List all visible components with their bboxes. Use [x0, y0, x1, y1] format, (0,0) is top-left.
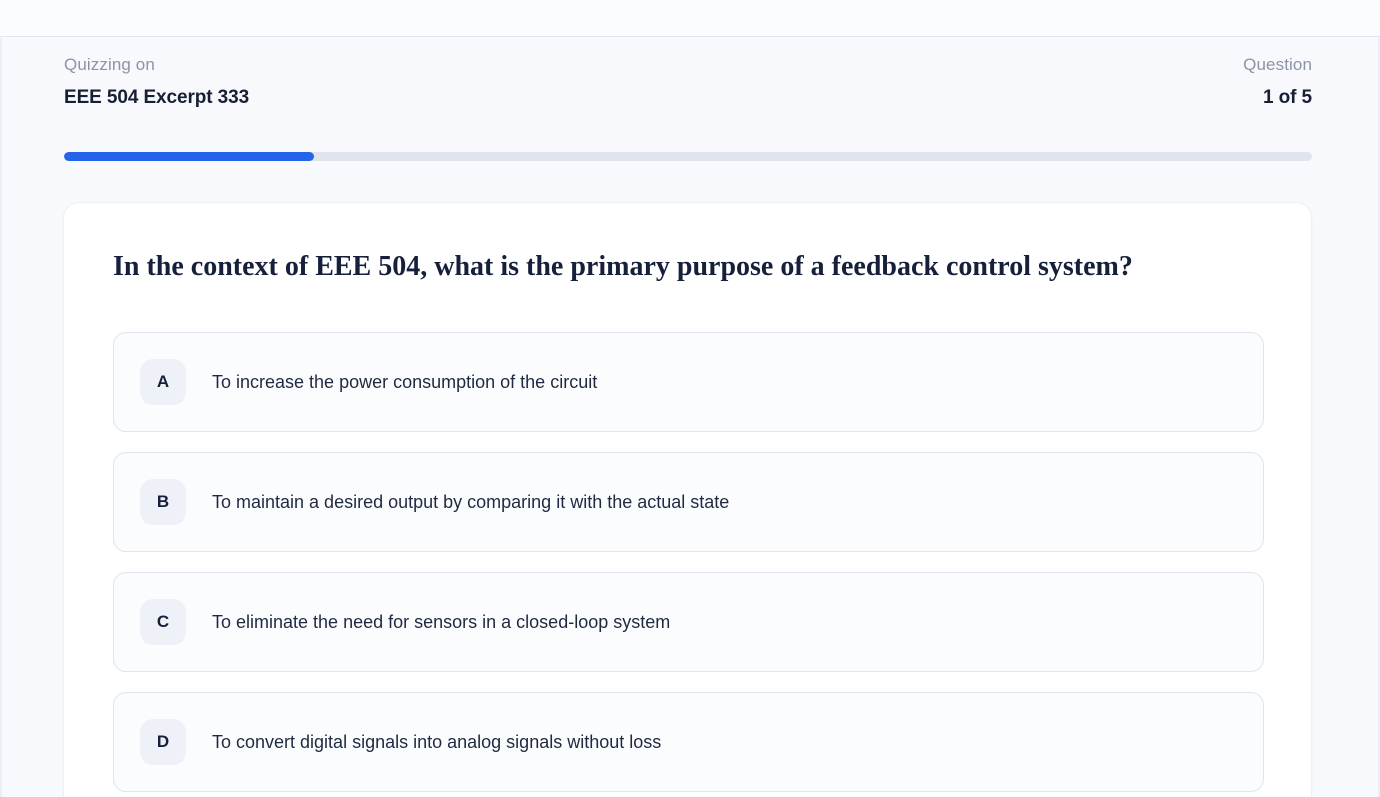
browser-top-strip [0, 0, 1380, 37]
quizzing-on-label: Quizzing on [64, 54, 249, 76]
answer-option-c[interactable]: C To eliminate the need for sensors in a… [113, 572, 1264, 672]
option-letter-badge-d: D [140, 719, 186, 765]
option-text-d: To convert digital signals into analog s… [212, 730, 661, 754]
question-label: Question [1243, 54, 1312, 76]
answer-option-a[interactable]: A To increase the power consumption of t… [113, 332, 1264, 432]
option-text-a: To increase the power consumption of the… [212, 370, 597, 394]
answer-option-b[interactable]: B To maintain a desired output by compar… [113, 452, 1264, 552]
option-text-b: To maintain a desired output by comparin… [212, 490, 729, 514]
quiz-progress-bar [64, 152, 1312, 161]
option-letter-badge-b: B [140, 479, 186, 525]
question-text: In the context of EEE 504, what is the p… [113, 249, 1262, 285]
question-counter: 1 of 5 [1243, 85, 1312, 111]
answer-option-d[interactable]: D To convert digital signals into analog… [113, 692, 1264, 792]
quiz-app-viewport: Quizzing on EEE 504 Excerpt 333 Question… [0, 38, 1380, 797]
option-letter-badge-c: C [140, 599, 186, 645]
question-card: In the context of EEE 504, what is the p… [63, 202, 1312, 797]
quiz-header: Quizzing on EEE 504 Excerpt 333 Question… [64, 54, 1312, 111]
question-counter-block: Question 1 of 5 [1243, 54, 1312, 111]
quiz-progress-fill [64, 152, 314, 161]
option-letter-badge-a: A [140, 359, 186, 405]
answer-options-list: A To increase the power consumption of t… [113, 332, 1262, 792]
quiz-subject-block: Quizzing on EEE 504 Excerpt 333 [64, 54, 249, 111]
option-text-c: To eliminate the need for sensors in a c… [212, 610, 670, 634]
quiz-source-title: EEE 504 Excerpt 333 [64, 85, 249, 111]
